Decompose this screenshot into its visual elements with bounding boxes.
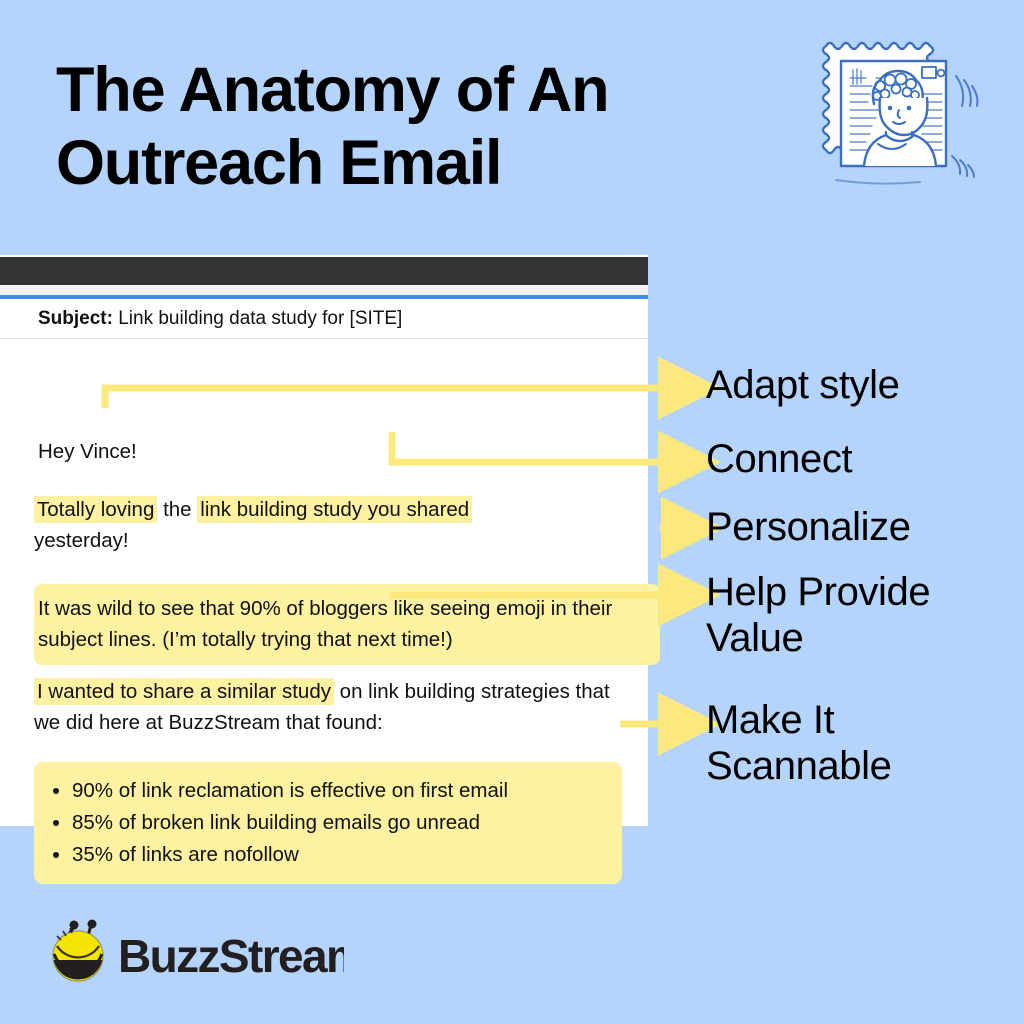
annotation-label-make-it-scannable: Make It Scannable	[706, 698, 1022, 789]
annotation-label-help-provide-value: Help Provide Value	[706, 570, 1022, 661]
annotation-label-adapt-style: Adapt style	[706, 363, 1022, 409]
connector-adapt-style	[105, 388, 665, 408]
bee-icon	[53, 920, 103, 982]
make-line-2: Scannable	[706, 744, 891, 788]
connector-connect	[392, 432, 665, 462]
infographic-canvas: The Anatomy of An Outreach Email	[0, 0, 1024, 1024]
help-line-1: Help Provide	[706, 570, 930, 614]
annotation-label-personalize: Personalize	[706, 505, 1022, 551]
make-line-1: Make It	[706, 698, 834, 742]
help-line-2: Value	[706, 616, 803, 660]
buzzstream-logo: BuzzStream	[44, 916, 344, 988]
annotation-label-connect: Connect	[706, 437, 1022, 483]
logo-wordmark: BuzzStream	[118, 930, 344, 982]
